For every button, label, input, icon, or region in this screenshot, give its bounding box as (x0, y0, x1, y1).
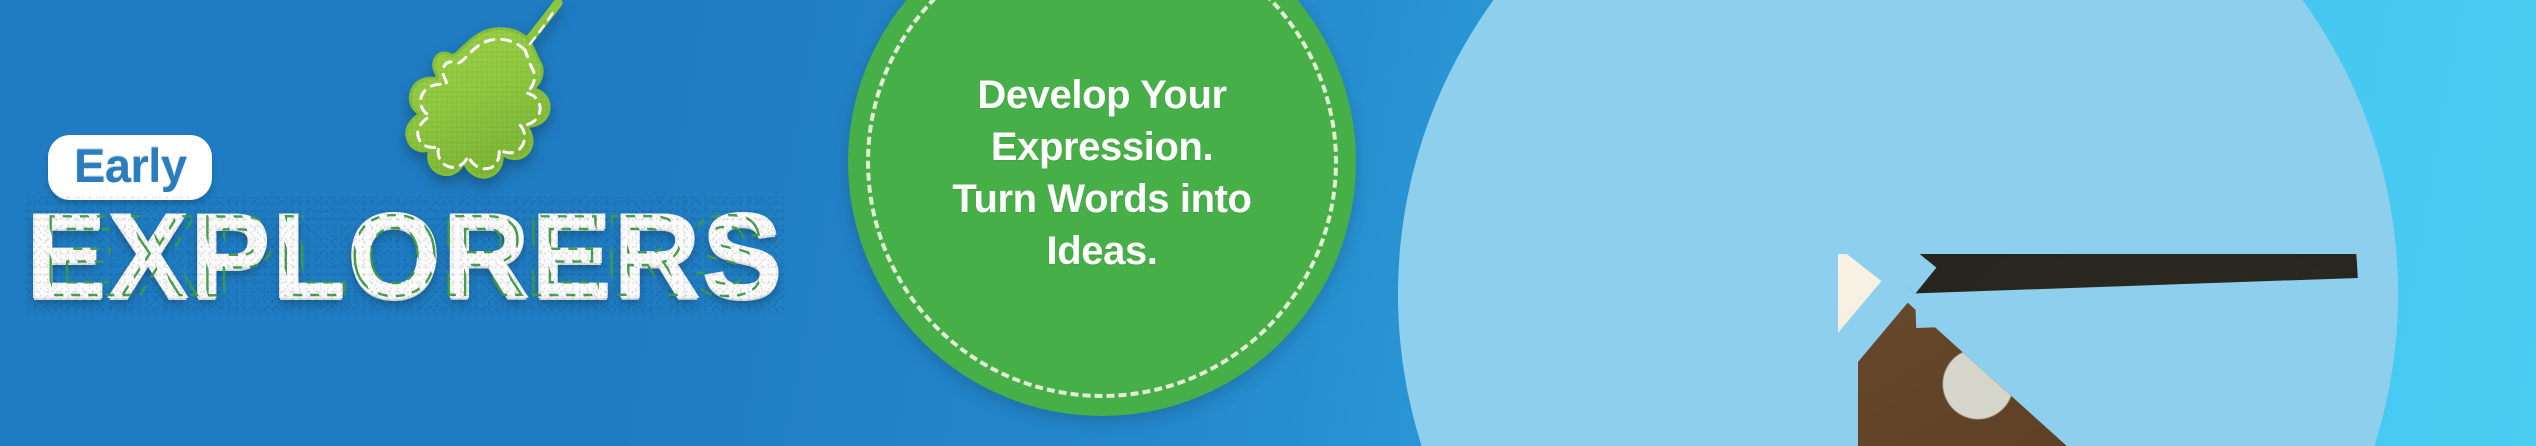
tagline-line-4: Ideas. (902, 225, 1302, 277)
photo-collage (1398, 0, 2398, 446)
tagline-line-1: Develop Your (902, 69, 1302, 121)
brand-wordmark-label: EXPLORERS (26, 189, 784, 323)
tagline-text: Develop Your Expression. Turn Words into… (902, 69, 1302, 277)
collage-wedge-girl (1882, 0, 2358, 294)
tagline-line-2: Expression. (902, 121, 1302, 173)
brand-eyebrow-label: Early (74, 142, 186, 189)
tagline-badge: Develop Your Expression. Turn Words into… (848, 0, 1356, 416)
tagline-line-3: Turn Words into (902, 173, 1302, 225)
brand-wordmark: EXPLORERS EXPLORERS (26, 196, 784, 316)
early-explorers-banner: Develop Your Expression. Turn Words into… (0, 0, 2536, 446)
leaf-icon (396, 0, 606, 196)
